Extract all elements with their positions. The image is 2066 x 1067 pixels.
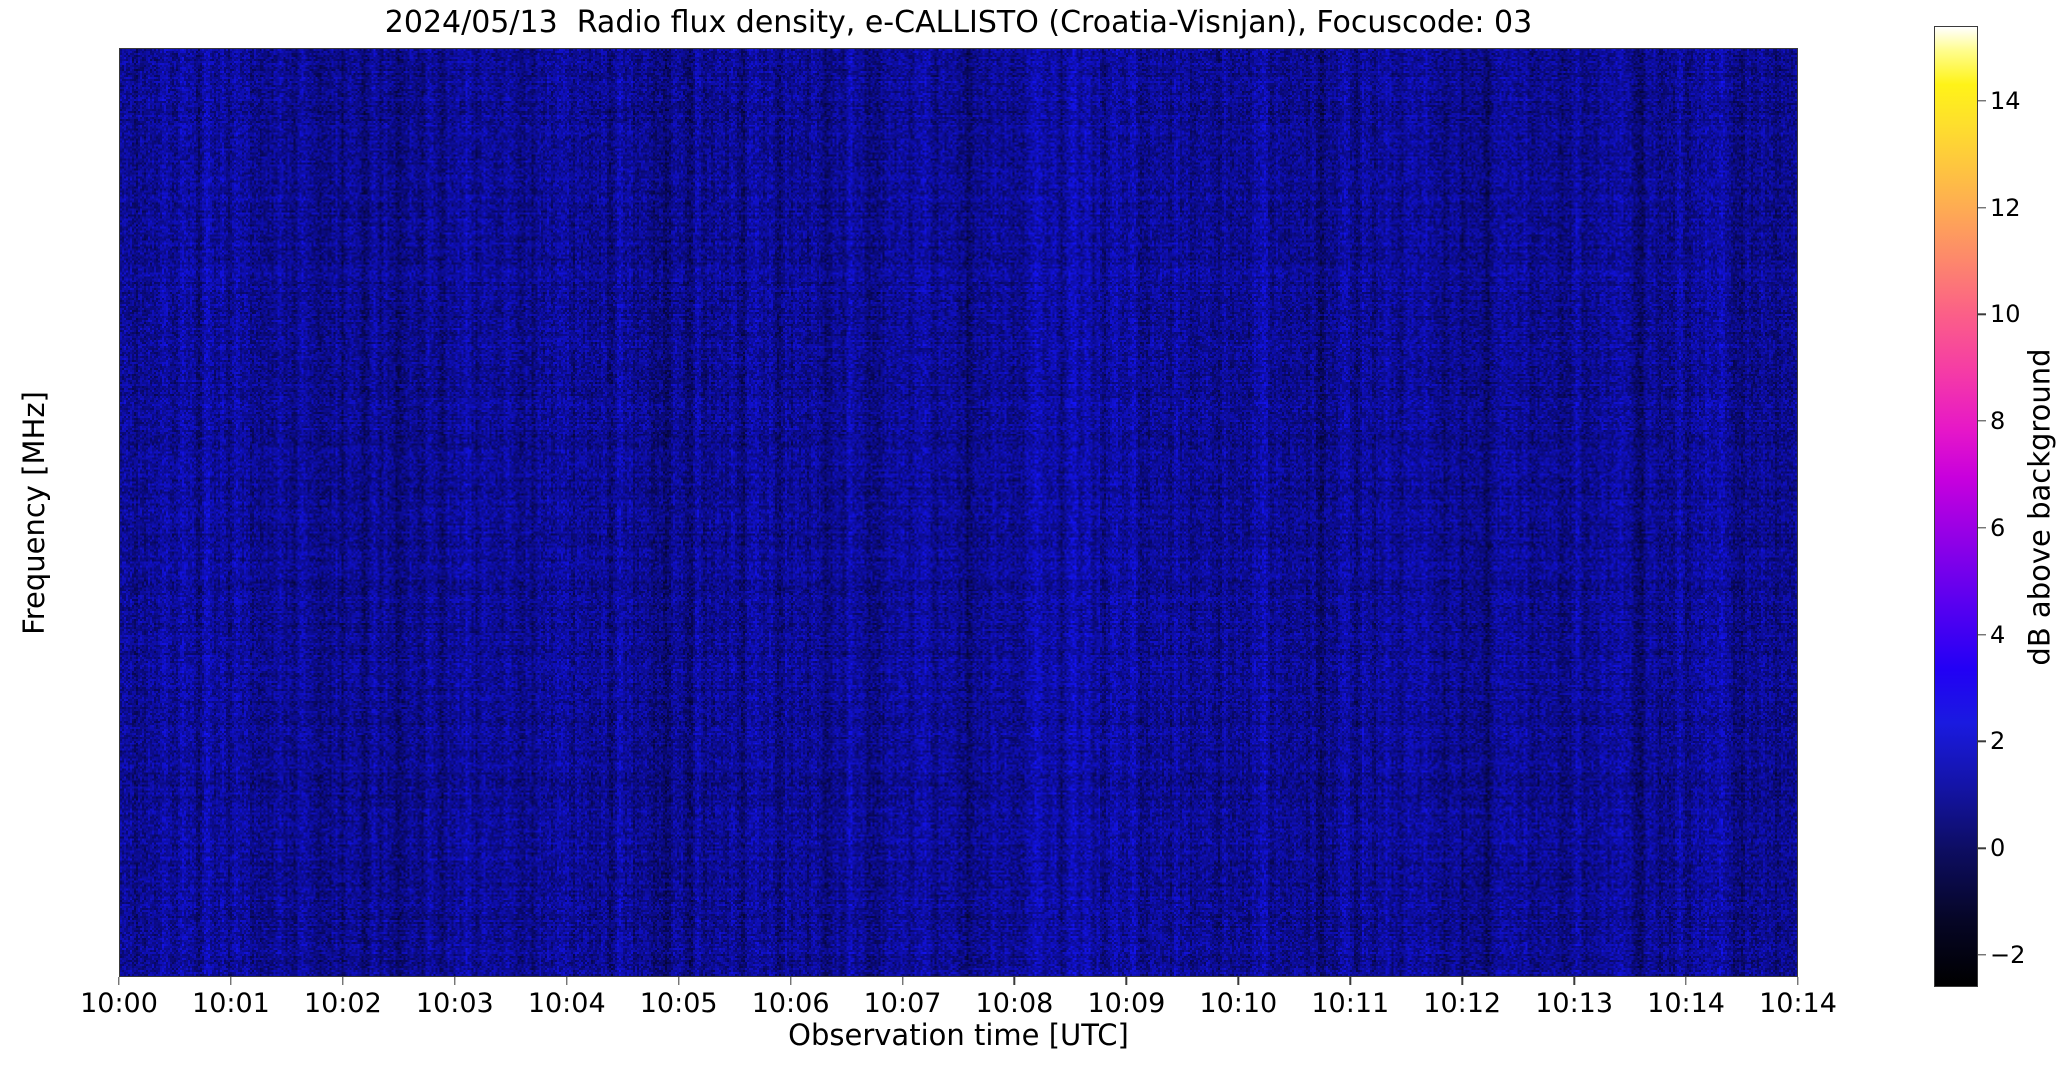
- colorbar-title-text: dB above background: [2023, 348, 2057, 665]
- x-tick-mark: [790, 977, 791, 985]
- y-axis-ticklabels: 1009080706050: [0, 0, 119, 1067]
- x-tick-mark: [342, 977, 343, 985]
- colorbar-tick-mark: [1978, 207, 1986, 208]
- colorbar-tick-mark: [1978, 634, 1986, 635]
- x-tick-label: 10:04: [528, 989, 606, 1019]
- colorbar-tick-label: 12: [1990, 196, 2021, 220]
- x-tick-mark: [454, 977, 455, 985]
- x-tick-label: 10:02: [304, 989, 382, 1019]
- x-tick-mark: [566, 977, 567, 985]
- colorbar-tick-label: 0: [1990, 836, 2005, 860]
- colorbar-tick-label: 14: [1990, 89, 2021, 113]
- x-tick-mark: [1014, 977, 1015, 985]
- colorbar-tick-label: 10: [1990, 302, 2021, 326]
- colorbar-tick-label: 8: [1990, 409, 2005, 433]
- x-tick-mark: [678, 977, 679, 985]
- x-tick-label: 10:06: [752, 989, 830, 1019]
- x-tick-label: 10:03: [416, 989, 494, 1019]
- x-tick-mark: [118, 977, 119, 985]
- x-tick-label: 10:14: [1647, 989, 1725, 1019]
- colorbar-tick-mark: [1978, 420, 1986, 421]
- x-axis-title: Observation time [UTC]: [119, 1018, 1798, 1052]
- colorbar-tick-label: 4: [1990, 623, 2005, 647]
- x-tick-label: 10:14: [1759, 989, 1837, 1019]
- colorbar-tick-mark: [1978, 100, 1986, 101]
- x-tick-label: 10:00: [80, 989, 158, 1019]
- x-tick-label: 10:10: [1199, 989, 1277, 1019]
- colorbar-gradient: [1934, 26, 1978, 987]
- x-tick-label: 10:12: [1423, 989, 1501, 1019]
- x-tick-label: 10:07: [864, 989, 942, 1019]
- x-tick-label: 10:05: [640, 989, 718, 1019]
- x-tick-mark: [1350, 977, 1351, 985]
- colorbar-tick-mark: [1978, 741, 1986, 742]
- x-tick-label: 10:01: [192, 989, 270, 1019]
- spectrogram-plot-area[interactable]: [119, 48, 1798, 977]
- x-tick-mark: [1461, 977, 1462, 985]
- colorbar-tick-mark: [1978, 847, 1986, 848]
- x-tick-label: 10:08: [976, 989, 1054, 1019]
- x-tick-mark: [1573, 977, 1574, 985]
- spectrogram-image: [120, 49, 1797, 976]
- x-tick-mark: [1685, 977, 1686, 985]
- x-tick-label: 10:11: [1311, 989, 1389, 1019]
- colorbar[interactable]: −202468101214: [1934, 26, 1978, 987]
- colorbar-tick-label: 6: [1990, 516, 2005, 540]
- colorbar-tick-mark: [1978, 954, 1986, 955]
- page-title: 2024/05/13 Radio flux density, e-CALLIST…: [119, 4, 1798, 42]
- colorbar-title: dB above background: [2018, 26, 2062, 987]
- x-tick-label: 10:13: [1535, 989, 1613, 1019]
- colorbar-tick-mark: [1978, 527, 1986, 528]
- x-tick-mark: [1797, 977, 1798, 985]
- colorbar-tick-label: 2: [1990, 729, 2005, 753]
- colorbar-tick-mark: [1978, 314, 1986, 315]
- x-tick-mark: [1238, 977, 1239, 985]
- x-tick-mark: [1126, 977, 1127, 985]
- x-tick-mark: [230, 977, 231, 985]
- figure-canvas: 2024/05/13 Radio flux density, e-CALLIST…: [0, 0, 2066, 1067]
- x-tick-label: 10:09: [1087, 989, 1165, 1019]
- x-tick-mark: [902, 977, 903, 985]
